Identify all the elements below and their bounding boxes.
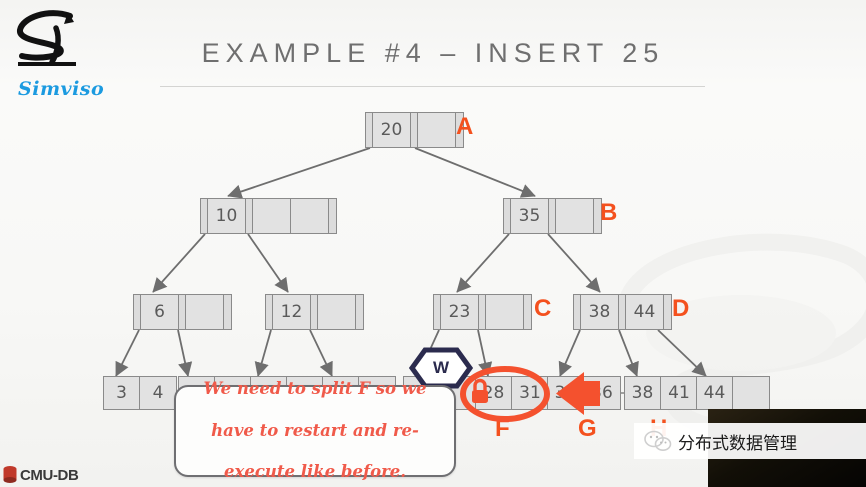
callout-box: We need to split F so wehave to restart … [174,385,456,477]
cmu-db-logo: CMU-DB [2,465,78,485]
callout-line-2: have to restart and re- [194,421,437,442]
leaf-key: 31 [512,377,548,409]
node-pointer-slot [356,295,363,329]
tree-node-D[interactable]: 38 44 [573,294,672,330]
node-empty-slot [318,295,356,329]
node-pointer-slot [366,113,373,147]
leaf-key [733,377,769,409]
node-empty-slot [486,295,524,329]
node-label-C: C [534,295,551,323]
node-key: 23 [441,295,479,329]
node-key: 44 [626,295,664,329]
node-key: 35 [511,199,549,233]
title-divider [160,86,705,87]
tree-node-A[interactable]: 20 [365,112,464,148]
node-pointer-slot [574,295,581,329]
leaf-key: 38 [625,377,661,409]
node-pointer-slot [266,295,273,329]
node-empty-slot [253,199,291,233]
node-key: 12 [273,295,311,329]
leaf-key: 36 [584,377,620,409]
node-pointer-slot [504,199,511,233]
node-pointer-slot [411,113,418,147]
node-label-D: D [672,295,689,323]
node-pointer-slot [549,199,556,233]
callout-line-1: We need to split F so we [194,379,437,400]
node-key: 6 [141,295,179,329]
node-pointer-slot [201,199,208,233]
database-cylinder-icon [2,465,18,485]
node-pointer-slot [524,295,531,329]
wechat-label: 分布式数据管理 [678,429,797,454]
node-label-B: B [600,199,617,227]
tree-node-B[interactable]: 35 [503,198,602,234]
leaf-node[interactable]: 44 [696,376,770,410]
leaf-key: 4 [140,377,176,409]
leaf-key: 44 [697,377,733,409]
node-empty-slot [291,199,329,233]
tree-node-left-inner[interactable]: 10 [200,198,337,234]
leaf-key: 35 [548,377,584,409]
leaf-node-H[interactable]: 38 41 [624,376,698,410]
node-pointer-slot [179,295,186,329]
page-title: EXAMPLE #4 – INSERT 25 [0,38,866,69]
leaf-key: 3 [104,377,140,409]
tree-node-C[interactable]: 23 [433,294,532,330]
node-pointer-slot [479,295,486,329]
node-empty-slot [556,199,594,233]
leaf-label-G: G [578,415,597,443]
node-pointer-slot [664,295,671,329]
leaf-key: 28 [476,377,512,409]
node-pointer-slot [329,199,336,233]
callout-text: We need to split F so wehave to restart … [184,379,447,483]
node-pointer-slot [619,295,626,329]
cmu-db-label: CMU-DB [20,467,78,484]
leaf-label-F: F [495,415,510,443]
node-pointer-slot [134,295,141,329]
brand-name: Simviso [18,78,104,100]
callout-line-3: execute like before. [194,462,437,483]
node-empty-slot [418,113,456,147]
node-pointer-slot [311,295,318,329]
node-key: 10 [208,199,246,233]
wechat-overlay: 分布式数据管理 [634,423,866,459]
slide-stage: Simviso EXAMPLE #4 – INSERT 25 [0,0,866,487]
tree-node-leaf-parent-1[interactable]: 6 [133,294,232,330]
node-empty-slot [186,295,224,329]
leaf-node-F[interactable]: 28 31 [475,376,549,410]
wechat-icon [644,430,672,452]
node-key: 20 [373,113,411,147]
tree-node-leaf-parent-2[interactable]: 12 [265,294,364,330]
leaf-node-G[interactable]: 35 36 [547,376,621,410]
node-label-A: A [456,113,473,141]
leaf-key: 41 [661,377,697,409]
node-pointer-slot [434,295,441,329]
leaf-node[interactable]: 3 4 [103,376,177,410]
node-pointer-slot [224,295,231,329]
node-key: 38 [581,295,619,329]
node-pointer-slot [246,199,253,233]
